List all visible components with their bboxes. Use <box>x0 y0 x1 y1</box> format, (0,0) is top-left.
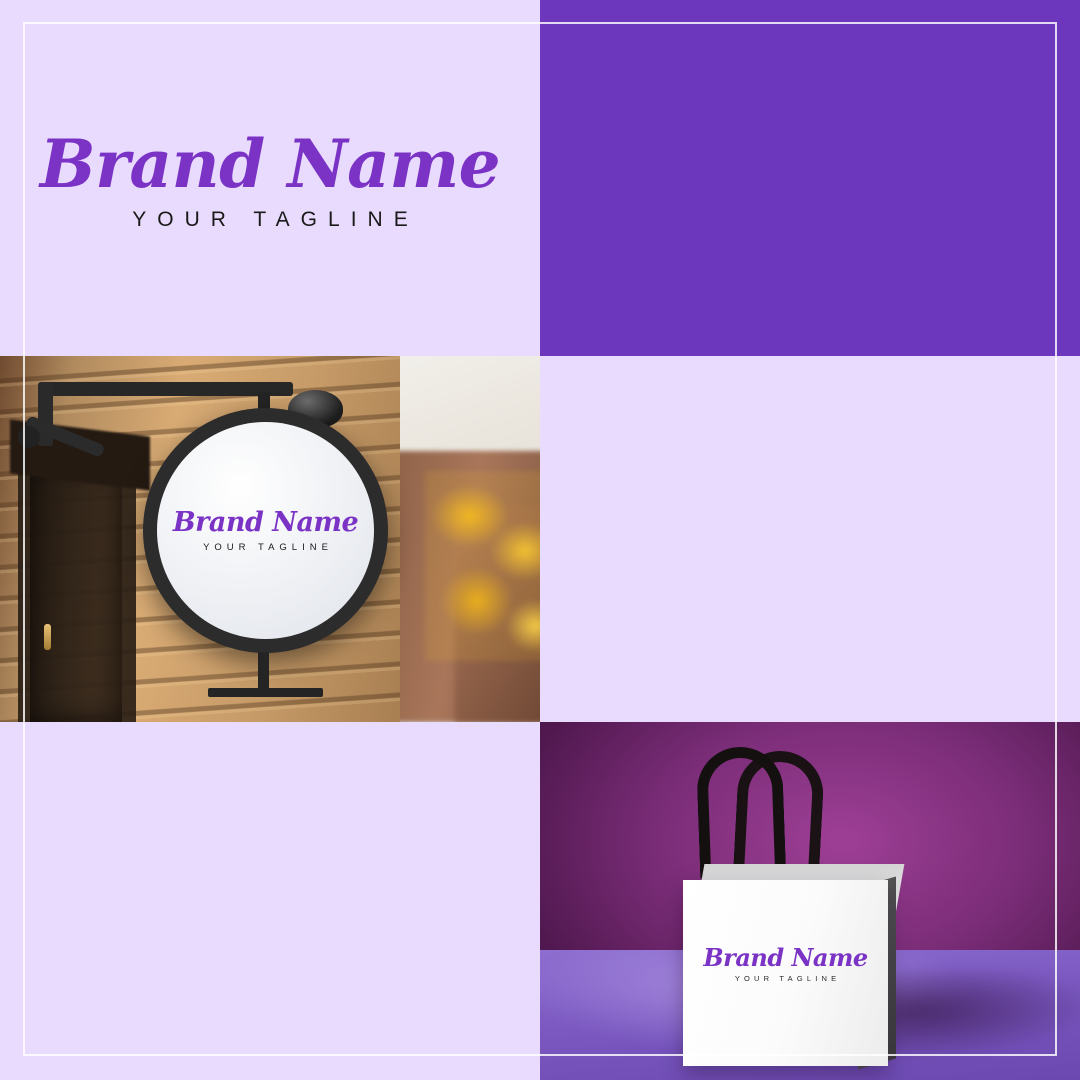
sign-face: Brand Name YOUR TAGLINE <box>157 422 374 639</box>
brand-lockup: Brand Name YOUR TAGLINE <box>0 128 540 232</box>
bag-front-panel: Brand Name YOUR TAGLINE <box>683 880 888 1066</box>
bag-tagline-text: YOUR TAGLINE <box>731 974 841 983</box>
sign-tagline-text: YOUR TAGLINE <box>198 542 333 553</box>
sign-foot-bar <box>208 688 323 697</box>
sign-bracket-cap <box>18 426 40 448</box>
bag-handle-right <box>733 749 826 883</box>
autumn-tree <box>425 471 540 661</box>
shopping-bag-photo: Brand Name YOUR TAGLINE <box>540 722 1080 1080</box>
storefront-sign-photo: Brand Name YOUR TAGLINE <box>0 356 540 722</box>
shop-door <box>30 466 122 722</box>
sign-brand-text: Brand Name <box>173 508 358 538</box>
door-handle <box>44 624 51 650</box>
brand-tagline-text: YOUR TAGLINE <box>0 208 540 232</box>
sign-bracket-horizontal <box>38 382 293 396</box>
shopping-bag-scene: Brand Name YOUR TAGLINE <box>540 722 1080 1080</box>
bag-brand-text: Brand Name <box>703 944 867 971</box>
storefront-scene: Brand Name YOUR TAGLINE <box>0 356 540 722</box>
brand-name-text: Brand Name <box>0 128 540 200</box>
poster-canvas: Brand Name YOUR TAGLINE Our company logo… <box>0 0 1080 1080</box>
logo-panel: Brand Name YOUR TAGLINE <box>0 0 540 356</box>
key-points-panel: Innovative: Our logo reflects a spirit o… <box>0 722 540 1080</box>
bag-logo-lockup: Brand Name YOUR TAGLINE <box>683 944 888 983</box>
headline-panel: Our company logo represents our dedicati… <box>540 0 1080 356</box>
about-panel: Symbol of Success and Trusted Quality Ou… <box>540 356 1080 722</box>
